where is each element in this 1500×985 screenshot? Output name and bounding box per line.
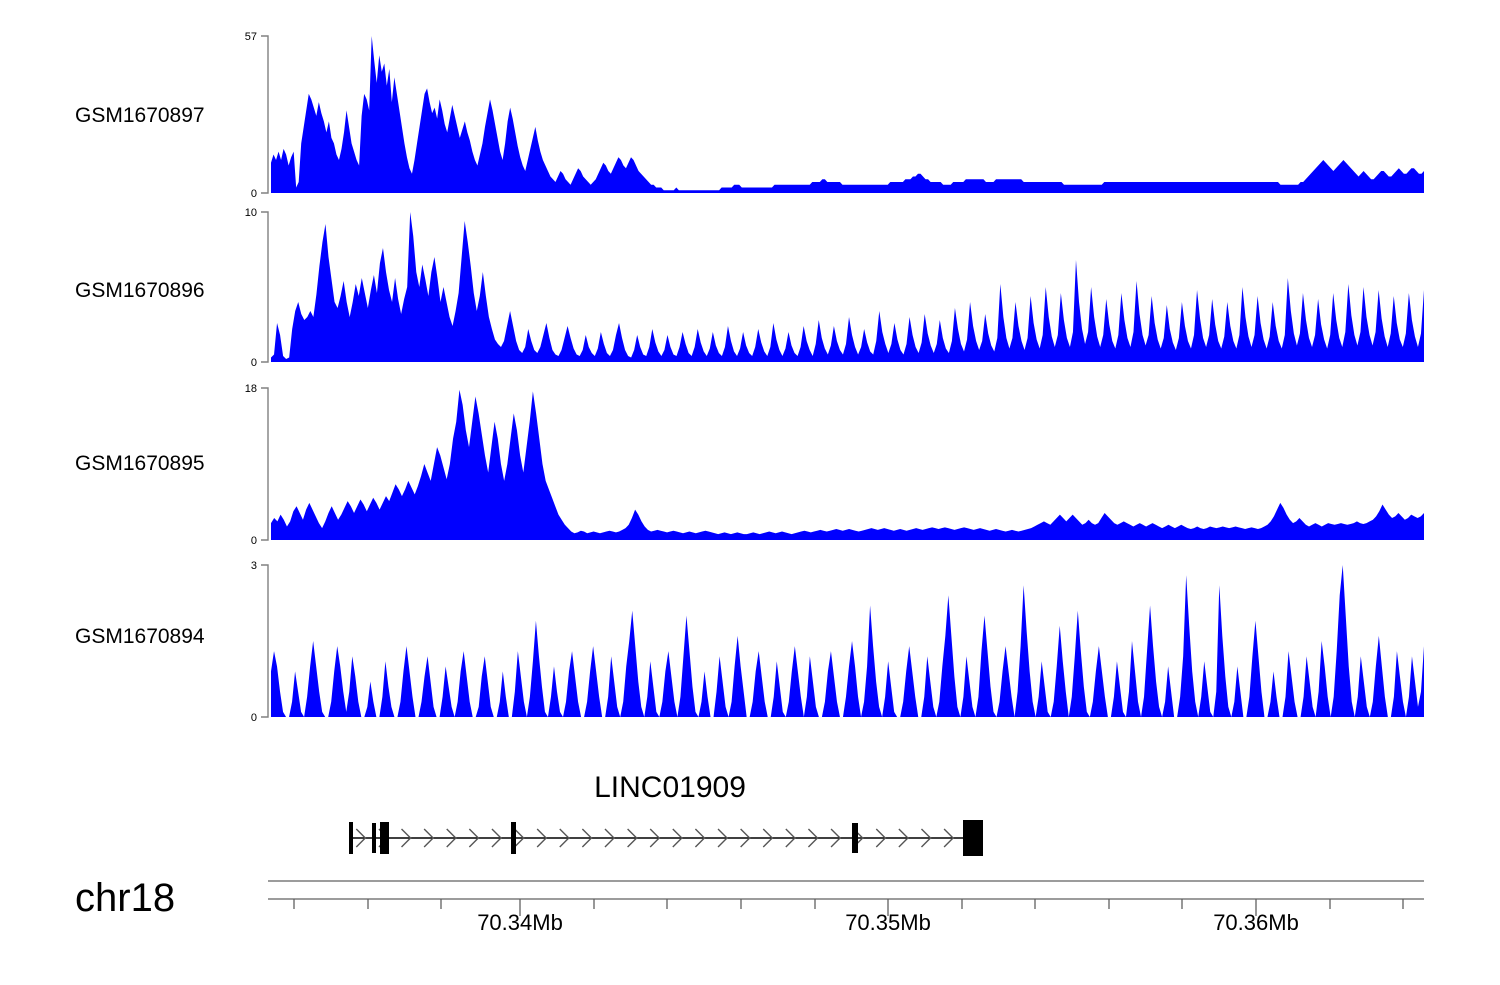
y-axis-min-label: 0 (251, 357, 257, 369)
gene-exon-block[interactable] (963, 820, 983, 856)
canvas-background (0, 0, 1500, 980)
gene-name-label: LINC01909 (594, 771, 746, 804)
track-label-gsm1670897: GSM1670897 (75, 104, 205, 127)
track-label-gsm1670895: GSM1670895 (75, 452, 205, 475)
axis-tick-label: 70.34Mb (477, 910, 563, 935)
y-axis-max-label: 57 (245, 31, 257, 43)
track-label-gsm1670896: GSM1670896 (75, 279, 205, 302)
browser-canvas: GSM1670897570GSM1670896100GSM1670895180G… (0, 0, 1500, 980)
y-axis-max-label: 10 (245, 207, 257, 219)
track-label-gsm1670894: GSM1670894 (75, 625, 205, 648)
y-axis-min-label: 0 (251, 535, 257, 547)
axis-tick-label: 70.35Mb (845, 910, 931, 935)
gene-exon-block[interactable] (852, 823, 858, 853)
y-axis-min-label: 0 (251, 188, 257, 200)
gene-exon-block[interactable] (511, 822, 516, 854)
chromosome-label: chr18 (75, 876, 175, 920)
gene-exon-block[interactable] (372, 823, 376, 853)
axis-tick-label: 70.36Mb (1213, 910, 1299, 935)
y-axis-max-label: 18 (245, 383, 257, 395)
gene-exon-block[interactable] (349, 822, 353, 854)
y-axis-max-label: 3 (251, 560, 257, 572)
y-axis-min-label: 0 (251, 712, 257, 724)
gene-exon-block[interactable] (380, 822, 389, 854)
genome-browser-view: GSM1670897570GSM1670896100GSM1670895180G… (0, 0, 1500, 980)
